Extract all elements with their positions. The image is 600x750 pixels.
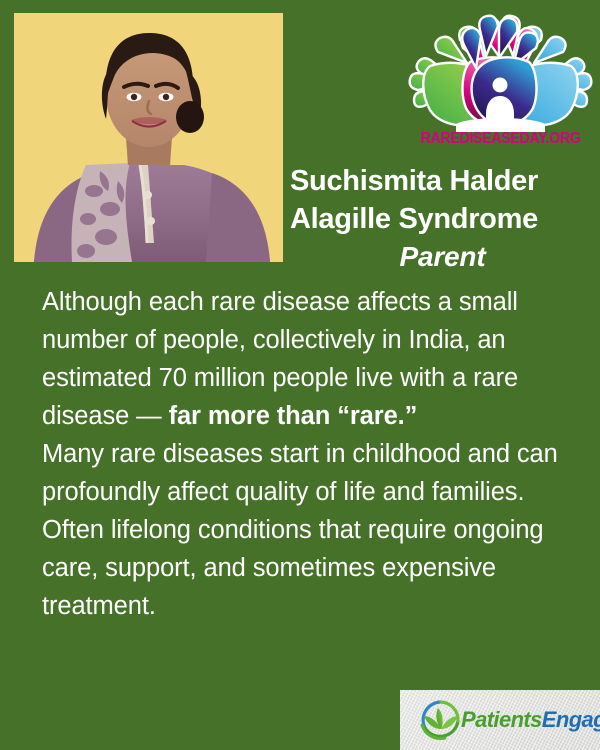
hands-logo-svg	[408, 14, 593, 132]
portrait-illustration	[14, 13, 283, 262]
person-name: Suchismita Halder	[290, 162, 595, 200]
person-condition: Alagille Syndrome	[290, 200, 595, 238]
identity-block: Suchismita Halder Alagille Syndrome Pare…	[290, 162, 595, 276]
quote-paragraph-1-emphasis: far more than “rare.”	[169, 402, 418, 430]
portrait-photo	[14, 13, 283, 262]
patients-engage-logo: PatientsEngage	[400, 690, 600, 750]
rare-disease-day-url: RAREDISEASEDAY.ORG	[415, 130, 585, 148]
patients-engage-wordmark: PatientsEngage	[461, 707, 600, 733]
person-role: Parent	[290, 238, 595, 276]
quote-paragraph-2: Many rare diseases start in childhood an…	[42, 435, 562, 625]
patients-engage-leaf-icon	[418, 699, 464, 741]
quote-body: Although each rare disease affects a sma…	[42, 283, 562, 625]
patients-engage-word-first: Patients	[461, 707, 542, 732]
patients-engage-word-second: Engage	[542, 707, 600, 732]
leaf-hand-circle-icon	[418, 699, 464, 741]
rare-disease-day-logo: RAREDISEASEDAY.ORG	[408, 14, 593, 162]
quote-paragraph-1: Although each rare disease affects a sma…	[42, 283, 562, 435]
rare-disease-day-hands-icon	[408, 14, 593, 132]
